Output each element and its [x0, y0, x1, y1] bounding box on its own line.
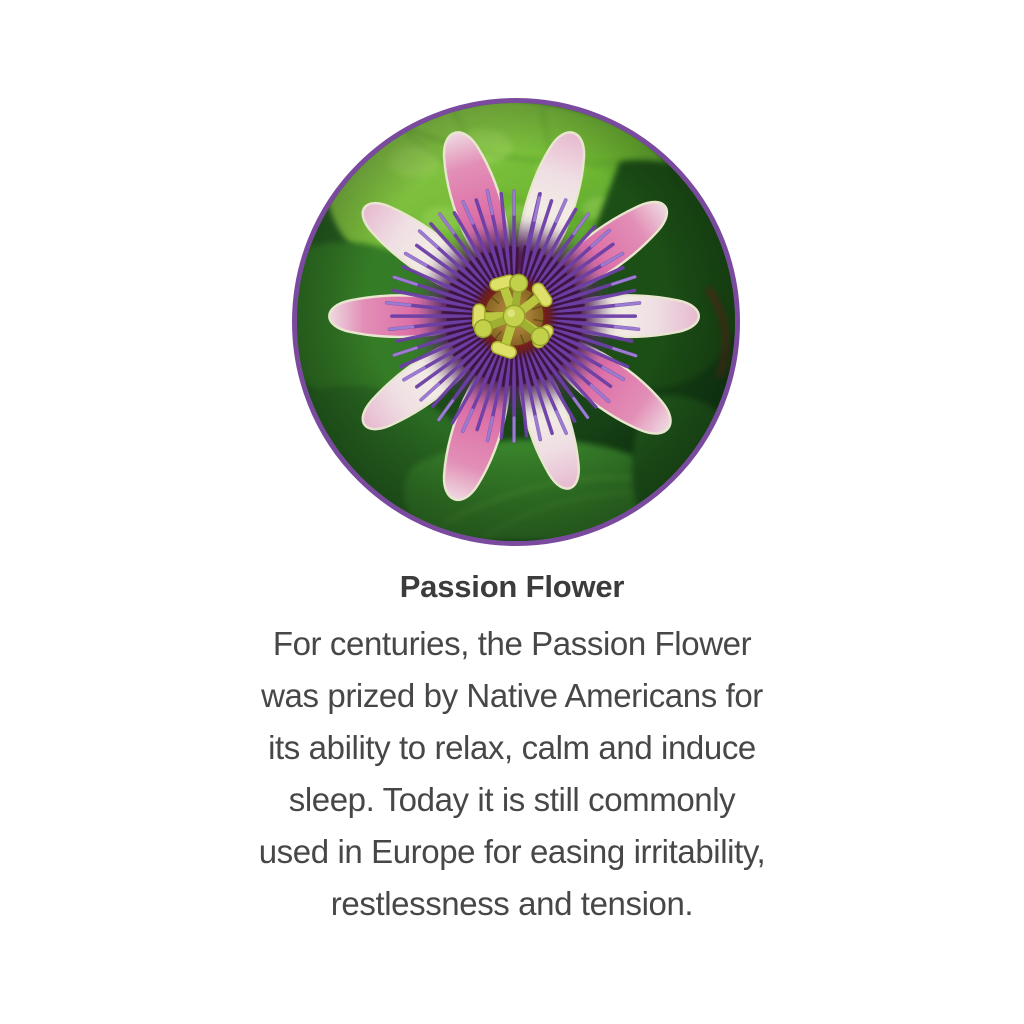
caption-block: Passion Flower For centuries, the Passio… [0, 568, 1024, 930]
description-text: For centuries, the Passion Flower was pr… [0, 618, 1024, 930]
passion-flower-illustration [297, 103, 735, 541]
description-line: its ability to relax, calm and induce [0, 722, 1024, 774]
description-line: was prized by Native Americans for [0, 670, 1024, 722]
passion-flower-card: Passion Flower For centuries, the Passio… [0, 0, 1024, 1024]
description-line: used in Europe for easing irritability, [0, 826, 1024, 878]
description-line: restlessness and tension. [0, 878, 1024, 930]
flower-photo [292, 98, 740, 546]
description-line: For centuries, the Passion Flower [0, 618, 1024, 670]
flower-photo-circular-frame [292, 98, 740, 546]
page-title: Passion Flower [0, 568, 1024, 606]
description-line: sleep. Today it is still commonly [0, 774, 1024, 826]
